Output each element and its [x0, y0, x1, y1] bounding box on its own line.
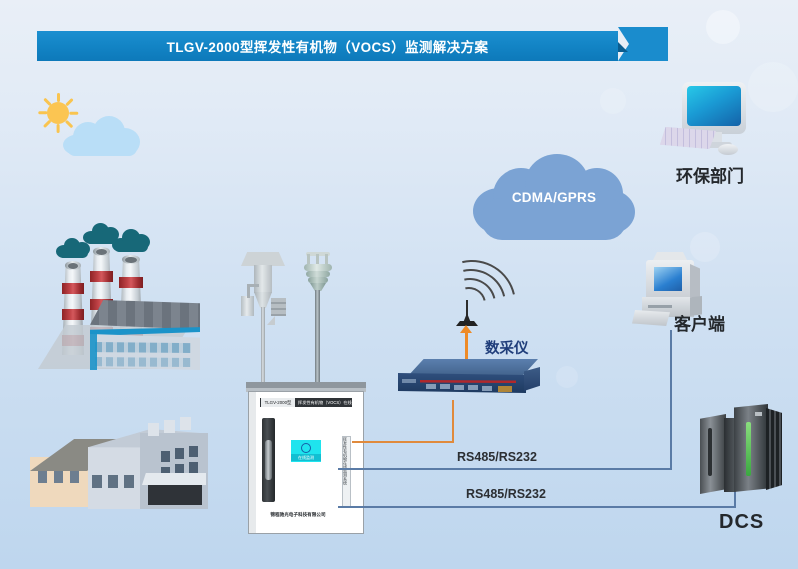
- dcs-label: DCS: [719, 511, 764, 534]
- collector-link-horizontal: [352, 441, 454, 443]
- keyboard-icon: [632, 310, 670, 326]
- client-label: 客户端: [674, 310, 725, 335]
- serial-link-1-horizontal: [338, 468, 672, 470]
- serial-link-1-vertical: [670, 330, 672, 469]
- cabinet-footer-text: 锦程驰光电子科技有限公司: [260, 510, 336, 519]
- collector-link-vertical: [452, 400, 454, 442]
- dcs-server-rack: [700, 400, 782, 512]
- keyboard-icon: [660, 127, 716, 149]
- env-department-label: 环保部门: [676, 162, 744, 187]
- env-department-computer: [660, 82, 756, 162]
- cabinet-screen-label: 在线监测: [291, 454, 321, 461]
- warehouse-building: [30, 413, 208, 513]
- cabinet-panel-title: 挥发性有机物（VOCS）在线监测系统: [298, 398, 352, 407]
- serial-link-2-horizontal: [338, 506, 736, 508]
- diagram-canvas: TLGV-2000型挥发性有机物（VOCS）监测解决方案: [0, 0, 798, 569]
- data-collector-device: [398, 359, 546, 401]
- cdma-gprs-label: CDMA/GPRS: [473, 190, 635, 205]
- antenna-icon: [455, 300, 479, 328]
- banner-ribbon-tail: [618, 27, 668, 61]
- analyzer-cabinet: TLGV-2000型 挥发性有机物（VOCS）在线监测系统 在线监测 挥发性有机…: [246, 382, 366, 534]
- decor-bubble: [556, 366, 578, 388]
- cdma-gprs-cloud: CDMA/GPRS: [473, 154, 635, 246]
- title-banner: TLGV-2000型挥发性有机物（VOCS）监测解决方案: [37, 31, 618, 61]
- data-collector-label: 数采仪: [485, 337, 529, 358]
- weather-cloud-icon: [63, 116, 140, 156]
- cabinet-side-text: 挥发性有机物在线监测系统: [342, 436, 351, 508]
- decor-bubble: [600, 88, 626, 114]
- decor-bubble: [706, 10, 740, 44]
- connection-label-2: RS485/RS232: [466, 487, 546, 501]
- page-title: TLGV-2000型挥发性有机物（VOCS）监测解决方案: [37, 31, 618, 61]
- mouse-icon: [718, 144, 738, 155]
- connection-label-1: RS485/RS232: [457, 450, 537, 464]
- weather-sensor-probe: [300, 252, 336, 388]
- banner-ribbon-fold: [618, 42, 628, 52]
- collector-arrow-head-up: [460, 325, 472, 333]
- voc-sampler-probe: [241, 252, 285, 388]
- cabinet-model-tag: TLGV-2000型: [261, 398, 295, 407]
- factory-building: [90, 300, 200, 370]
